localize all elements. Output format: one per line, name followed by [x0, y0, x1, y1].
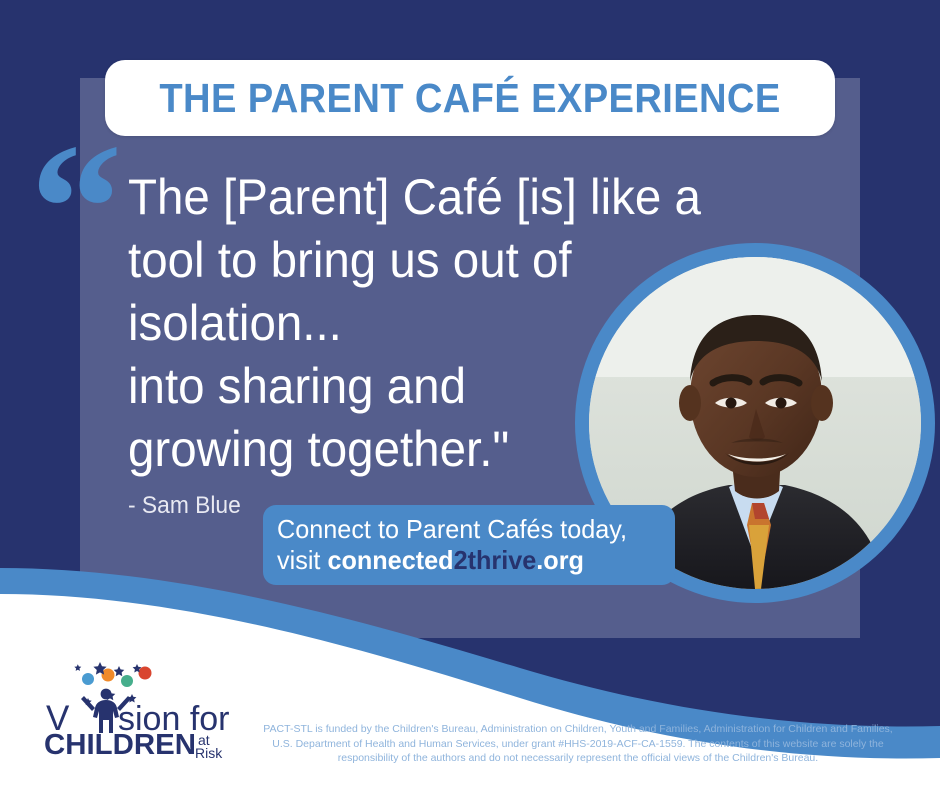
logo-dot-blue: [82, 673, 94, 685]
logo-dot-orange: [102, 669, 115, 682]
logo-children-text: CHILDREN: [44, 729, 196, 760]
logo-dot-green: [121, 675, 133, 687]
cta-line-1: Connect to Parent Cafés today,: [277, 514, 663, 545]
quote-line: tool to bring us out of: [128, 229, 603, 292]
logo-risk-text: Risk: [195, 745, 223, 760]
quote-attribution: - Sam Blue: [128, 492, 241, 520]
title-pill: THE PARENT CAFÉ EXPERIENCE: [105, 60, 835, 136]
vision-for-children-at-risk-logo: V sion for CHILDREN at Risk: [40, 650, 240, 760]
quote-line: isolation...: [128, 292, 603, 355]
footer-disclaimer: PACT-STL is funded by the Children's Bur…: [258, 722, 898, 766]
quote-line: The [Parent] Café [is] like a: [128, 166, 603, 229]
page-title: THE PARENT CAFÉ EXPERIENCE: [159, 75, 780, 122]
cta-banner[interactable]: Connect to Parent Cafés today, visit con…: [263, 505, 675, 585]
poster-canvas: THE PARENT CAFÉ EXPERIENCE “ The [Parent…: [0, 0, 940, 788]
quote-mark-icon: “: [30, 116, 123, 301]
cta-visit-label: visit: [277, 545, 327, 575]
cta-url-part-3: .org: [536, 545, 584, 575]
quote-line: growing together.": [128, 418, 603, 481]
quote-line: into sharing and: [128, 355, 603, 418]
cta-url-part-2: 2thrive: [454, 545, 537, 575]
cta-line-2: visit connected2thrive.org: [277, 545, 663, 576]
logo-dot-red: [139, 667, 152, 680]
quote-text-block: The [Parent] Café [is] like a tool to br…: [128, 166, 628, 481]
cta-url-part-1: connected: [327, 545, 453, 575]
